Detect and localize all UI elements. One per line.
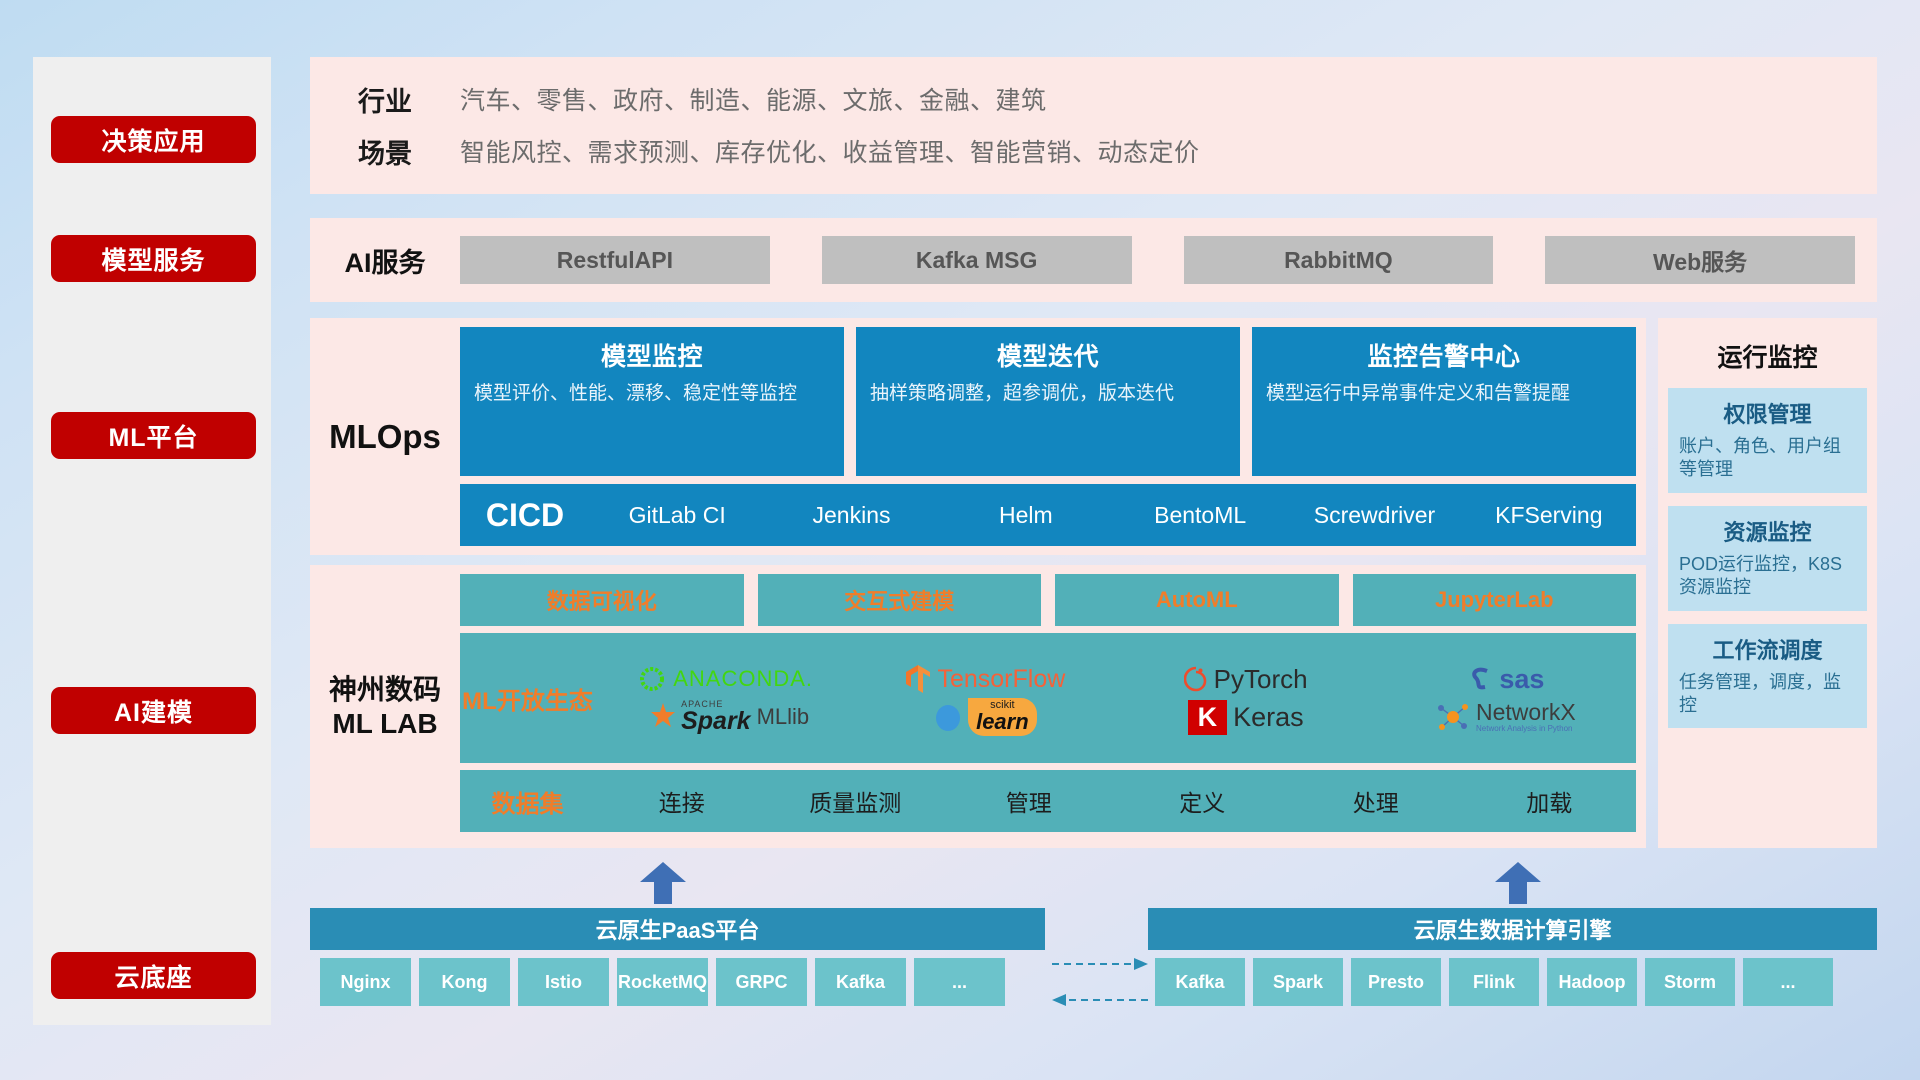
chip-kong[interactable]: Kong (419, 958, 510, 1006)
ml-ecosystem-logo-grid: ANACONDA. TensorFlow PyTorch (595, 660, 1636, 736)
keras-wordmark: Keras (1233, 702, 1304, 733)
tensorflow-mark-icon (905, 664, 931, 694)
dataset-action-connect[interactable]: 连接 (595, 784, 769, 818)
lab-tool-automl[interactable]: AutoML (1055, 574, 1339, 626)
card-title: 模型监控 (474, 337, 830, 373)
anaconda-mark-icon (637, 664, 667, 694)
spark-wordmark: Spark (681, 709, 750, 734)
industry-row: 行业 汽车、零售、政府、制造、能源、文旅、金融、建筑 (310, 73, 1877, 125)
card-desc: 模型评价、性能、漂移、稳定性等监控 (474, 381, 830, 406)
tensorflow-logo: TensorFlow (855, 664, 1115, 694)
ml-lab-tool-list: 数据可视化 交互式建模 AutoML JupyterLab (460, 574, 1636, 626)
cloud-native-paas-bar[interactable]: 云原生PaaS平台 (310, 908, 1045, 950)
chip-kafka[interactable]: Kafka (815, 958, 906, 1006)
scenario-values: 智能风控、需求预测、库存优化、收益管理、智能营销、动态定价 (460, 133, 1200, 169)
cicd-bar: CICD GitLab CI Jenkins Helm BentoML Scre… (460, 484, 1636, 546)
sidebar-item-label: AI建模 (114, 693, 193, 729)
paas-component-chip-row: Nginx Kong Istio RocketMQ GRPC Kafka ... (320, 958, 1005, 1006)
monitoring-panel: 运行监控 权限管理 账户、角色、用户组等管理 资源监控 POD运行监控，K8S资… (1658, 318, 1877, 848)
ml-lab-label-line1: 神州数码 (329, 673, 441, 706)
pytorch-wordmark: PyTorch (1214, 664, 1308, 695)
card-desc: 账户、角色、用户组等管理 (1679, 435, 1856, 482)
cicd-tool-list: GitLab CI Jenkins Helm BentoML Screwdriv… (590, 503, 1636, 528)
service-chip-kafka-msg[interactable]: Kafka MSG (822, 236, 1132, 284)
chip-nginx[interactable]: Nginx (320, 958, 411, 1006)
sidebar-item-cloud-foundation[interactable]: 云底座 (51, 952, 256, 999)
mlops-card-model-monitoring[interactable]: 模型监控 模型评价、性能、漂移、稳定性等监控 (460, 327, 844, 476)
up-arrow-data-engine-icon (1495, 862, 1541, 904)
dataset-action-list: 连接 质量监测 管理 定义 处理 加载 (595, 784, 1636, 818)
networkx-wordmark: NetworkX (1476, 700, 1576, 725)
scenario-row: 场景 智能风控、需求预测、库存优化、收益管理、智能营销、动态定价 (310, 125, 1877, 177)
dataset-action-define[interactable]: 定义 (1116, 784, 1290, 818)
mllib-wordmark: MLlib (757, 704, 810, 730)
sas-mark-icon (1467, 665, 1493, 693)
lab-tool-interactive-modeling[interactable]: 交互式建模 (758, 574, 1042, 626)
sidebar-item-label: 决策应用 (101, 122, 205, 158)
chip-grpc[interactable]: GRPC (716, 958, 807, 1006)
ml-ecosystem-label: ML开放生态 (460, 681, 595, 716)
ml-lab-label-line2: ML LAB (332, 707, 437, 740)
monitoring-card-workflow[interactable]: 工作流调度 任务管理，调度，监控 (1668, 624, 1867, 729)
service-chip-web-service[interactable]: Web服务 (1545, 236, 1855, 284)
card-title: 模型迭代 (870, 337, 1226, 373)
ai-service-list: RestfulAPI Kafka MSG RabbitMQ Web服务 (460, 236, 1877, 284)
sidebar-item-ai-modeling[interactable]: AI建模 (51, 687, 256, 734)
networkx-tagline: Network Analysis in Python (1476, 725, 1576, 734)
sidebar-item-model-service[interactable]: 模型服务 (51, 235, 256, 282)
chip-presto[interactable]: Presto (1351, 958, 1441, 1006)
scikit-learn-logo: scikit learn (855, 698, 1115, 736)
tensorflow-wordmark: TensorFlow (937, 665, 1065, 694)
service-layer-band: AI服务 RestfulAPI Kafka MSG RabbitMQ Web服务 (310, 218, 1877, 302)
ml-lab-content: 数据可视化 交互式建模 AutoML JupyterLab ML开放生态 ANA… (460, 565, 1646, 848)
scikit-blue-blob-icon (934, 702, 962, 732)
up-arrow-paas-icon (640, 862, 686, 904)
pytorch-mark-icon (1184, 664, 1208, 694)
lab-tool-jupyterlab[interactable]: JupyterLab (1353, 574, 1637, 626)
sas-wordmark: sas (1499, 664, 1544, 695)
chip-more-engine[interactable]: ... (1743, 958, 1833, 1006)
data-engine-component-chip-row: Kafka Spark Presto Flink Hadoop Storm ..… (1155, 958, 1833, 1006)
cicd-tool-gitlab-ci[interactable]: GitLab CI (590, 503, 764, 528)
card-desc: 模型运行中异常事件定义和告警提醒 (1266, 381, 1622, 406)
cloud-native-data-engine-bar[interactable]: 云原生数据计算引擎 (1148, 908, 1877, 950)
sidebar-item-decision-app[interactable]: 决策应用 (51, 116, 256, 163)
service-chip-restfulapi[interactable]: RestfulAPI (460, 236, 770, 284)
mlops-label: MLOps (310, 318, 460, 555)
cicd-tool-bentoml[interactable]: BentoML (1113, 503, 1287, 528)
dataset-action-manage[interactable]: 管理 (942, 784, 1116, 818)
dataset-bar: 数据集 连接 质量监测 管理 定义 处理 加载 (460, 770, 1636, 832)
monitoring-card-permission[interactable]: 权限管理 账户、角色、用户组等管理 (1668, 388, 1867, 493)
card-title: 工作流调度 (1679, 633, 1856, 665)
cicd-label: CICD (460, 497, 590, 534)
industry-label: 行业 (310, 80, 460, 119)
chip-hadoop[interactable]: Hadoop (1547, 958, 1637, 1006)
card-desc: 任务管理，调度，监控 (1679, 671, 1856, 718)
mlops-card-model-iteration[interactable]: 模型迭代 抽样策略调整，超参调优，版本迭代 (856, 327, 1240, 476)
sidebar-item-label: ML平台 (108, 418, 198, 454)
sas-logo: sas (1376, 664, 1636, 695)
pytorch-logo: PyTorch (1116, 664, 1376, 695)
card-title: 资源监控 (1679, 515, 1856, 547)
sidebar-item-ml-platform[interactable]: ML平台 (51, 412, 256, 459)
sidebar-item-label: 云底座 (114, 958, 192, 994)
anaconda-logo: ANACONDA. (595, 664, 855, 694)
ml-ecosystem-box: ML开放生态 ANACONDA. TensorFlow (460, 633, 1636, 763)
dataset-label: 数据集 (460, 784, 595, 819)
card-title: 权限管理 (1679, 397, 1856, 429)
anaconda-wordmark: ANACONDA. (673, 666, 813, 692)
chip-istio[interactable]: Istio (518, 958, 609, 1006)
spark-star-icon (641, 700, 675, 734)
cicd-tool-helm[interactable]: Helm (939, 503, 1113, 528)
cicd-tool-jenkins[interactable]: Jenkins (764, 503, 938, 528)
service-chip-rabbitmq[interactable]: RabbitMQ (1184, 236, 1494, 284)
ai-service-label: AI服务 (310, 241, 460, 280)
layer-sidebar: 决策应用 模型服务 ML平台 AI建模 云底座 (33, 57, 271, 1025)
chip-kafka-engine[interactable]: Kafka (1155, 958, 1245, 1006)
dataset-action-process[interactable]: 处理 (1289, 784, 1463, 818)
chip-storm[interactable]: Storm (1645, 958, 1735, 1006)
mlops-card-list: 模型监控 模型评价、性能、漂移、稳定性等监控 模型迭代 抽样策略调整，超参调优，… (460, 327, 1636, 476)
keras-mark-icon: K (1188, 700, 1228, 735)
card-desc: 抽样策略调整，超参调优，版本迭代 (870, 381, 1226, 406)
card-title: 监控告警中心 (1266, 337, 1622, 373)
dashed-connector-right-icon (1050, 952, 1150, 1012)
dataset-action-quality-monitor[interactable]: 质量监测 (769, 784, 943, 818)
cicd-tool-kfserving[interactable]: KFServing (1462, 503, 1636, 528)
mlops-layer-band: MLOps 模型监控 模型评价、性能、漂移、稳定性等监控 模型迭代 抽样策略调整… (310, 318, 1646, 555)
application-layer-band: 行业 汽车、零售、政府、制造、能源、文旅、金融、建筑 场景 智能风控、需求预测、… (310, 57, 1877, 194)
mlops-content: 模型监控 模型评价、性能、漂移、稳定性等监控 模型迭代 抽样策略调整，超参调优，… (460, 318, 1646, 555)
chip-rocketmq[interactable]: RocketMQ (617, 958, 708, 1006)
spark-mllib-logo: APACHE Spark MLlib (595, 700, 855, 734)
chip-spark[interactable]: Spark (1253, 958, 1343, 1006)
industry-values: 汽车、零售、政府、制造、能源、文旅、金融、建筑 (460, 81, 1047, 117)
lab-tool-data-visualization[interactable]: 数据可视化 (460, 574, 744, 626)
ml-lab-label: 神州数码 ML LAB (310, 565, 460, 848)
card-desc: POD运行监控，K8S资源监控 (1679, 553, 1856, 600)
mlops-card-alert-center[interactable]: 监控告警中心 模型运行中异常事件定义和告警提醒 (1252, 327, 1636, 476)
chip-more-paas[interactable]: ... (914, 958, 1005, 1006)
chip-flink[interactable]: Flink (1449, 958, 1539, 1006)
dataset-action-load[interactable]: 加载 (1463, 784, 1637, 818)
cicd-tool-screwdriver[interactable]: Screwdriver (1287, 503, 1461, 528)
networkx-logo: NetworkX Network Analysis in Python (1376, 700, 1636, 734)
monitoring-card-resource[interactable]: 资源监控 POD运行监控，K8S资源监控 (1668, 506, 1867, 611)
sidebar-item-label: 模型服务 (101, 241, 205, 277)
scenario-label: 场景 (310, 132, 460, 171)
learn-text: learn (976, 711, 1029, 733)
keras-logo: K Keras (1116, 700, 1376, 735)
monitoring-panel-title: 运行监控 (1668, 338, 1867, 374)
networkx-graph-icon (1436, 701, 1470, 733)
ai-modeling-layer-band: 神州数码 ML LAB 数据可视化 交互式建模 AutoML JupyterLa… (310, 565, 1646, 848)
